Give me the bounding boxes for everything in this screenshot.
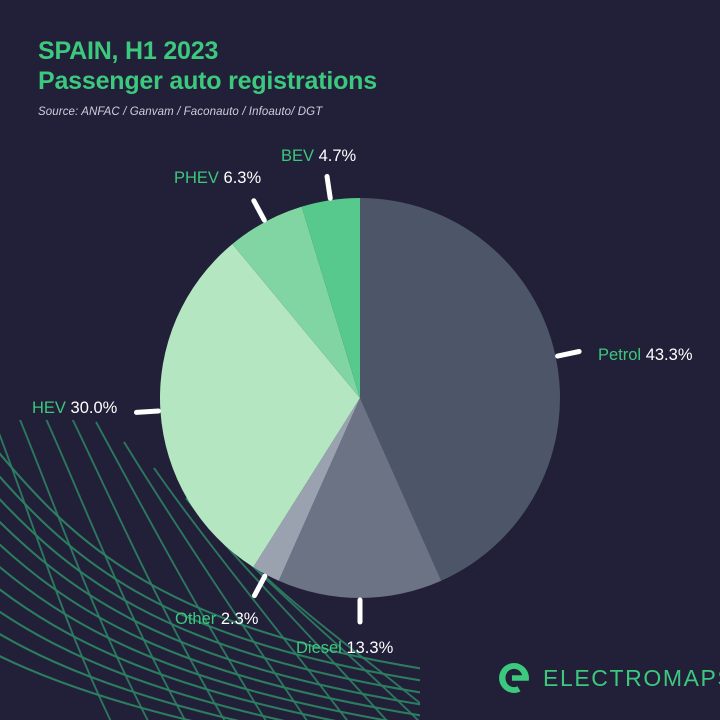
slice-label-other-value: 2.3%	[221, 610, 259, 628]
slice-label-phev: PHEV 6.3%	[174, 168, 261, 188]
slice-label-other-name: Other	[175, 610, 216, 628]
slice-label-hev-name: HEV	[32, 399, 66, 417]
slice-label-bev-value: 4.7%	[319, 147, 357, 165]
slice-label-other: Other 2.3%	[175, 609, 258, 629]
leader-line-petrol	[558, 352, 580, 357]
slice-label-diesel: Diesel 13.3%	[296, 638, 393, 658]
slice-label-phev-name: PHEV	[174, 169, 219, 187]
slice-label-petrol: Petrol 43.3%	[598, 345, 693, 365]
leader-line-phev	[254, 201, 264, 220]
slice-label-petrol-value: 43.3%	[646, 346, 693, 364]
slice-label-bev: BEV 4.7%	[281, 146, 356, 166]
pie-slice-group	[160, 198, 560, 598]
infographic-canvas: SPAIN, H1 2023 Passenger auto registrati…	[0, 0, 720, 720]
brand-wordmark: ELECTROMAPS	[543, 665, 720, 692]
slice-label-diesel-name: Diesel	[296, 639, 342, 657]
leader-line-bev	[327, 176, 330, 198]
slice-label-phev-value: 6.3%	[224, 169, 262, 187]
slice-label-diesel-value: 13.3%	[346, 639, 393, 657]
leader-line-hev	[136, 411, 158, 412]
leader-line-other	[254, 576, 264, 595]
electromaps-e-icon	[497, 661, 531, 695]
slice-label-hev: HEV 30.0%	[32, 398, 117, 418]
slice-label-petrol-name: Petrol	[598, 346, 641, 364]
slice-label-hev-value: 30.0%	[71, 399, 118, 417]
brand-logo: ELECTROMAPS	[497, 661, 720, 695]
slice-label-bev-name: BEV	[281, 147, 314, 165]
